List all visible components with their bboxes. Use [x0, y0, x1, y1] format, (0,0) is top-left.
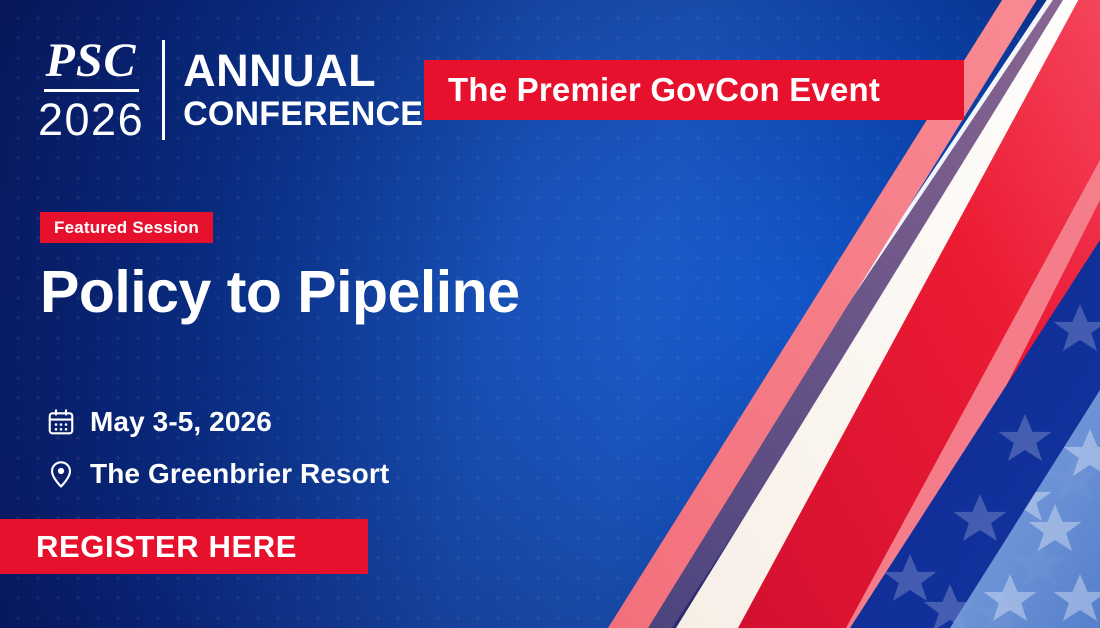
psc-conference-logo: PSC 2026 ANNUAL CONFERENCE [38, 38, 423, 142]
logo-conference-text: CONFERENCE [183, 97, 423, 133]
register-here-button[interactable]: REGISTER HERE [0, 519, 368, 574]
event-date-row: May 3-5, 2026 [44, 396, 389, 448]
event-location-text: The Greenbrier Resort [90, 458, 389, 490]
event-date-text: May 3-5, 2026 [90, 406, 272, 438]
logo-left-block: PSC 2026 [38, 38, 162, 142]
conference-promo-banner: PSC 2026 ANNUAL CONFERENCE The Premier G… [0, 0, 1100, 628]
premier-event-banner: The Premier GovCon Event [424, 60, 964, 120]
logo-right-block: ANNUAL CONFERENCE [165, 38, 423, 142]
logo-annual-text: ANNUAL [183, 48, 423, 93]
event-meta: May 3-5, 2026 The Greenbrier Resort [44, 396, 389, 500]
logo-psc-text: PSC [44, 37, 139, 92]
logo-year-text: 2026 [38, 96, 144, 143]
featured-session-label: Featured Session [54, 218, 199, 238]
register-here-label: REGISTER HERE [36, 529, 297, 565]
calendar-icon [44, 405, 78, 439]
map-pin-icon [44, 457, 78, 491]
premier-event-text: The Premier GovCon Event [448, 71, 880, 109]
featured-session-badge: Featured Session [40, 212, 213, 243]
event-location-row: The Greenbrier Resort [44, 448, 389, 500]
session-title: Policy to Pipeline [40, 262, 520, 324]
